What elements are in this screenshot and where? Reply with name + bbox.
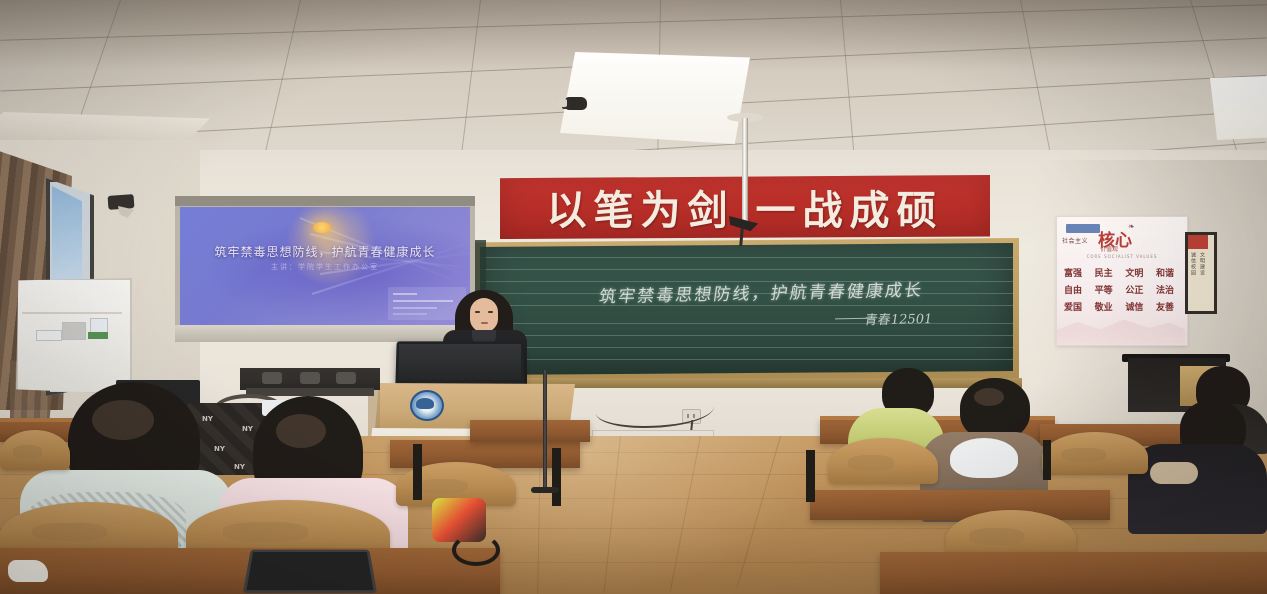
bag-monogram: NY [202,415,213,423]
cabinet-seam [22,312,122,314]
cabinet-label-2 [62,322,86,340]
poster-bird-icon: ❧ [1128,222,1150,232]
chair-back [1042,432,1148,474]
microphone-stand-base [531,487,559,493]
microphone-stand [543,370,547,490]
poster-value: 公正 [1125,283,1143,296]
university-emblem-inner [416,398,434,409]
poster-value: 自由 [1064,283,1082,296]
desk-leg [1043,440,1051,480]
student-torso [1128,444,1267,534]
desk-leg [413,444,422,500]
blackboard-signature: 青春12501 [863,307,1007,329]
hair-highlight [974,388,1004,406]
poster-value: 民主 [1095,266,1113,279]
ceiling-light-panel-right [1210,74,1267,140]
tissue [8,560,48,582]
desk [810,490,1110,520]
bag-monogram: NY [234,463,245,471]
bag-monogram: NY [242,425,253,433]
av-device-1 [262,372,282,384]
presenter-face [470,298,498,332]
desk-leg [552,448,561,506]
poster-values-row-2: 自由 平等 公正 法治 [1064,283,1174,296]
slide-sun-graphic [313,222,331,233]
projection-screen-roller [175,196,475,206]
chair-back [0,430,70,470]
cabinet-label-1 [36,330,62,341]
camera-icon [565,97,587,110]
poster-value: 敬业 [1095,300,1113,313]
slide-title: 筑牢禁毒思想防线，护航青春健康成长 [185,243,465,260]
classroom-photo: 以笔为剑 一战成硕 筑牢禁毒思想防线，护航青春健康成长 青春12501 筑牢禁毒… [0,0,1267,594]
poster-heading-sub: 价值观 [1100,244,1144,253]
poster-value: 和谐 [1156,266,1174,279]
student-hood [950,438,1018,478]
poster-value: 友善 [1156,300,1174,313]
poster-value: 诚信 [1125,300,1143,313]
backpack-strap [452,534,500,566]
certificate-text-column-2: 文明建设 [1199,252,1206,300]
poster-value: 文明 [1125,266,1143,279]
bag-monogram: NY [214,445,225,453]
student-hand [1150,462,1198,484]
poster-university-logo [1066,224,1100,233]
desk-front-row [880,552,1267,594]
desk-leg [806,450,815,502]
poster-value: 平等 [1095,283,1113,296]
poster-heading-left: 社会主义 [1062,236,1096,248]
poster-values-row-1: 富强 民主 文明 和谐 [1064,266,1174,279]
poster-values-row-3: 爱国 敬业 诚信 友善 [1064,300,1174,313]
tablet-device [243,550,377,593]
poster-english-caption: CORE SOCIALIST VALUES [1072,254,1172,259]
student-head [960,378,1030,440]
microphone-pole [742,118,748,223]
certificate-header [1188,235,1208,249]
ceiling-light-panel [560,52,750,144]
hair-highlight [92,400,154,440]
desk [470,420,590,442]
chair-back [828,438,938,484]
slide-subtitle: 主讲：学院学生工作办公室 [185,262,465,272]
av-device-2 [300,372,320,384]
av-device-3 [336,372,356,384]
projection-screen-bottom-bar [175,325,475,342]
certificate-text-column-1: 诚信校园 [1190,252,1197,300]
poster-value: 爱国 [1064,300,1082,313]
poster-value: 法治 [1156,283,1174,296]
poster-value: 富强 [1064,266,1082,279]
cabinet-label-4 [88,332,108,339]
monitor-screen [399,344,521,380]
hair-highlight [276,414,326,448]
